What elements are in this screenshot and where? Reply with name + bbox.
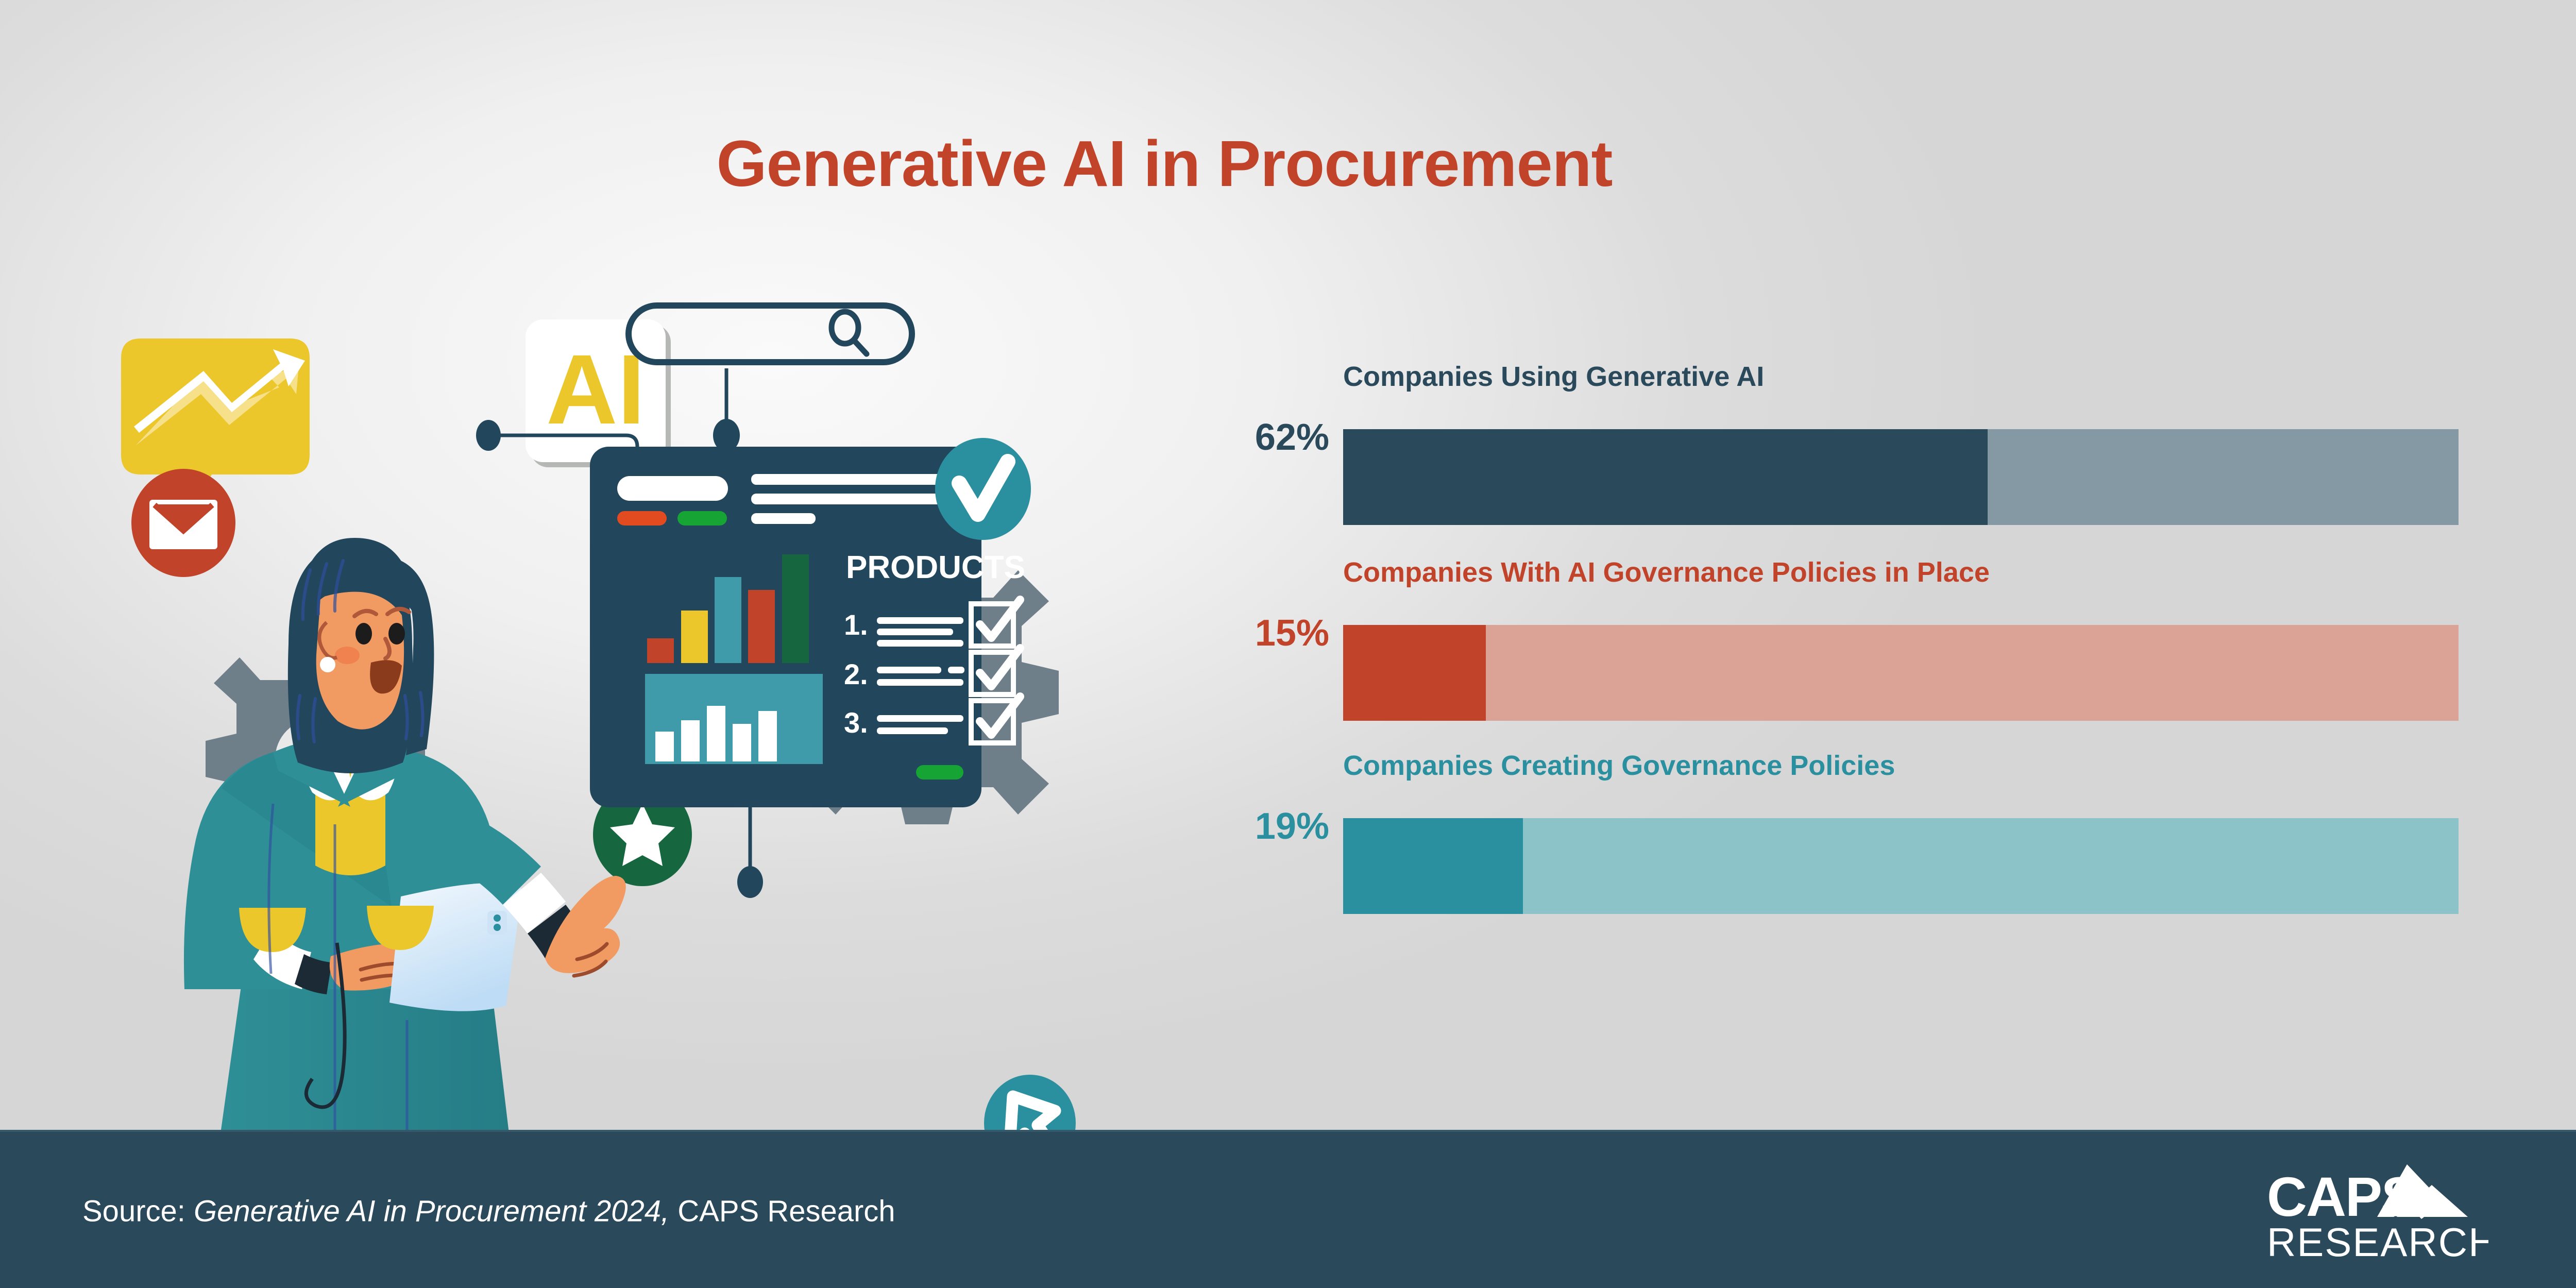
bar-fill <box>1343 625 1486 721</box>
woman-with-tablet <box>184 538 626 1133</box>
source-citation: Source: Generative AI in Procurement 202… <box>82 1194 895 1228</box>
logo-research-text: RESEARCH <box>2267 1219 2488 1260</box>
list-item-number: 3. <box>844 706 868 739</box>
source-prefix: Source: <box>82 1194 194 1228</box>
page-title: Generative AI in Procurement <box>0 126 2452 201</box>
bar-value: 19% <box>1226 805 1329 848</box>
bar-chart: Companies Using Generative AI 62% Compan… <box>1226 361 2488 979</box>
ai-card-icon: AI <box>526 319 671 467</box>
bar-value: 15% <box>1226 612 1329 654</box>
search-icon <box>832 312 867 354</box>
bar-track <box>1343 625 2459 721</box>
bar-track <box>1343 818 2459 914</box>
search-bar-icon[interactable] <box>629 306 912 362</box>
bar-value: 62% <box>1226 416 1329 459</box>
footer-bar: Source: Generative AI in Procurement 202… <box>0 1130 2576 1288</box>
bar-fill <box>1343 429 1988 525</box>
caps-research-logo: CAPS RESEARCH <box>2267 1162 2488 1260</box>
bar-label: Companies Using Generative AI <box>1343 361 1764 393</box>
cursor-badge-icon <box>984 1075 1076 1133</box>
logo-caps-text: CAPS <box>2267 1165 2417 1228</box>
checkmark-badge-icon <box>935 438 1031 540</box>
infographic-canvas: Generative AI in Procurement <box>0 0 2576 1288</box>
illustration: AI <box>118 289 1252 1133</box>
bar-label: Companies Creating Governance Policies <box>1343 750 1895 782</box>
products-heading: PRODUCTS <box>846 550 1025 585</box>
bar-fill <box>1343 818 1523 914</box>
list-item-number: 2. <box>844 658 868 690</box>
email-envelope-icon <box>131 469 235 577</box>
source-suffix: CAPS Research <box>669 1194 895 1228</box>
bar-label: Companies With AI Governance Policies in… <box>1343 556 1990 588</box>
bar-track <box>1343 429 2459 525</box>
list-item-number: 1. <box>844 608 868 641</box>
source-title: Generative AI in Procurement 2024, <box>194 1194 669 1228</box>
